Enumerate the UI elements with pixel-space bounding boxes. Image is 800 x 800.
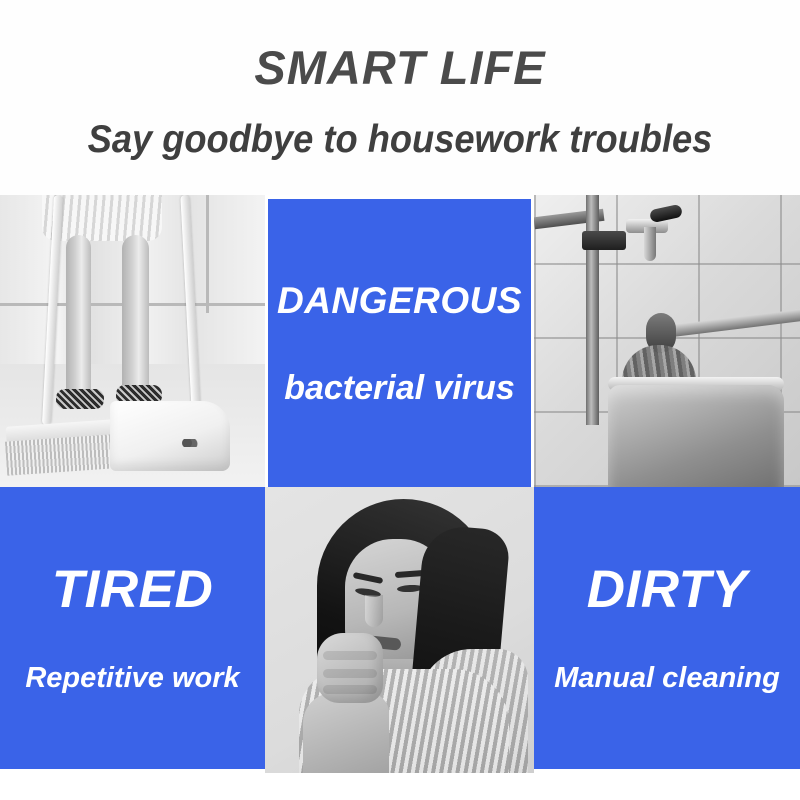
sink-basin-shape [608, 385, 784, 487]
floor-dirt-shape [176, 439, 198, 447]
dustpan-shape [110, 401, 230, 471]
panel-dirty-headline: DIRTY [587, 563, 748, 616]
grid-cell-coughing-photo [265, 487, 534, 773]
finger-line-shape [323, 669, 377, 678]
panel-tired-subline: Repetitive work [25, 664, 239, 693]
panel-tired: TIRED Repetitive work [0, 487, 265, 773]
promo-poster: SMART LIFE Say goodbye to housework trou… [0, 0, 800, 800]
panel-dirty: DIRTY Manual cleaning [534, 487, 800, 773]
panel-tired-headline: TIRED [52, 563, 214, 616]
feature-grid: DANGEROUS bacterial virus TIRED [0, 195, 800, 773]
poster-header: SMART LIFE Say goodbye to housework trou… [0, 0, 800, 195]
coughing-woman-photo [265, 487, 534, 773]
panel-dangerous-headline: DANGEROUS [277, 282, 522, 319]
finger-line-shape [323, 651, 377, 660]
cabinet-seam-line [206, 195, 209, 313]
pipe-coupler-shape [582, 231, 626, 250]
grid-cell-mop-photo [534, 195, 800, 487]
left-leg-shape [66, 235, 91, 395]
sweeping-photo [0, 195, 265, 487]
page-title: SMART LIFE [0, 44, 800, 91]
nose-shape [365, 595, 383, 627]
forearm-shape [303, 693, 389, 773]
finger-line-shape [323, 685, 377, 694]
panel-dangerous: DANGEROUS bacterial virus [265, 195, 534, 487]
left-slipper-shape [56, 389, 104, 409]
vertical-pipe-shape [586, 195, 599, 425]
faucet-spout-shape [644, 227, 656, 261]
right-leg-shape [122, 235, 149, 400]
panel-dirty-subline: Manual cleaning [554, 664, 780, 693]
page-subtitle: Say goodbye to housework troubles [28, 120, 772, 159]
mop-sink-photo [534, 195, 800, 487]
grid-cell-sweeping-photo [0, 195, 265, 487]
panel-dangerous-subline: bacterial virus [284, 371, 515, 405]
broom-bristles-shape [5, 434, 115, 475]
